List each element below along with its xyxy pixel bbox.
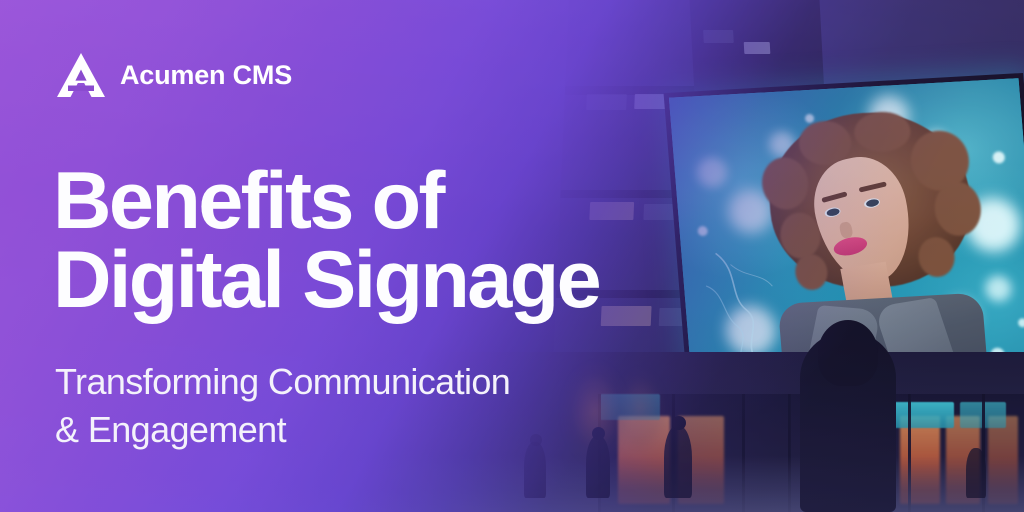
hero-banner: Acumen CMS Benefits of Digital Signage T… — [0, 0, 1024, 512]
brand-logo[interactable]: Acumen CMS — [56, 52, 292, 98]
hero-content: Acumen CMS Benefits of Digital Signage T… — [0, 0, 1024, 512]
brand-name: Acumen CMS — [120, 62, 292, 89]
triangle-a-mark-icon — [56, 52, 106, 98]
page-subtitle: Transforming Communication & Engagement — [55, 358, 510, 454]
page-title: Benefits of Digital Signage — [53, 162, 599, 321]
